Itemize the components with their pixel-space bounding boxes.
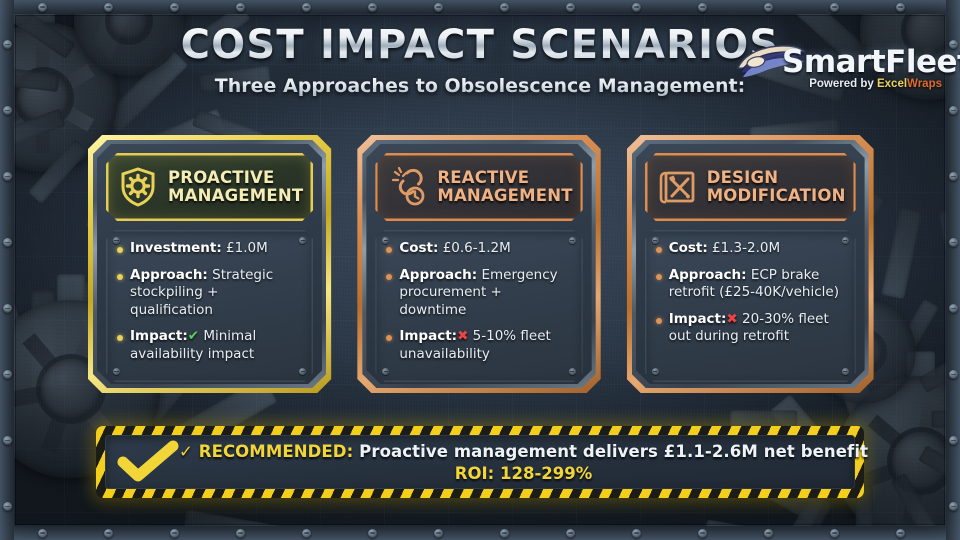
rivet	[3, 106, 12, 115]
rivet	[368, 3, 377, 12]
bullet-value: £0.6-1.2M	[438, 240, 510, 256]
rivet	[632, 3, 641, 12]
bullet-label: Impact:	[399, 328, 457, 344]
card-header: DESIGN MODIFICATION	[645, 153, 856, 221]
rivet	[236, 3, 245, 12]
bullet-text: Approach: ECP brake retrofit (£25-40K/ve…	[669, 267, 844, 302]
card-title: DESIGN MODIFICATION	[707, 169, 846, 205]
rivet	[896, 529, 905, 538]
bullet-dot	[656, 247, 662, 253]
rivet	[566, 3, 575, 12]
rivet	[3, 436, 12, 445]
bullet-label: Approach:	[669, 267, 747, 283]
screw	[569, 368, 576, 375]
bullet-value: £1.0M	[222, 240, 268, 256]
card-title: PROACTIVE MANAGEMENT	[168, 169, 303, 205]
bullet-dot	[656, 274, 662, 280]
bullet-text: Impact:✔ Minimal availability impact	[130, 328, 301, 363]
bullet-label: Cost:	[399, 240, 438, 256]
bullet-dot	[386, 274, 392, 280]
rivet	[896, 3, 905, 12]
rivet	[632, 529, 641, 538]
rivet	[949, 370, 958, 379]
rivet	[368, 529, 377, 538]
rivet	[949, 172, 958, 181]
check-icon: ✔	[188, 328, 199, 344]
rivet	[302, 3, 311, 12]
screw	[382, 368, 389, 375]
rivet	[949, 502, 958, 511]
bullet-text: Cost: £1.3-2.0M	[669, 240, 780, 258]
rivet	[949, 304, 958, 313]
rivet	[38, 3, 47, 12]
banner-line-1: ✓ RECOMMENDED: Proactive management deli…	[179, 442, 868, 461]
rivet	[830, 529, 839, 538]
card-title-line-2: MANAGEMENT	[168, 186, 303, 205]
scenario-cards: PROACTIVE MANAGEMENT Investment: £1.0M A…	[88, 135, 872, 393]
bullet-dot	[386, 247, 392, 253]
logo-powered-by: Powered by ExcelWraps	[809, 78, 942, 90]
rivet	[3, 172, 12, 181]
rivet	[764, 3, 773, 12]
rivet	[949, 436, 958, 445]
bullet-text: Approach: Emergency procurement + downti…	[399, 267, 570, 320]
bullet-text: Investment: £1.0M	[130, 240, 268, 258]
scenario-card-reactive[interactable]: REACTIVE MANAGEMENT Cost: £0.6-1.2M Appr…	[357, 135, 600, 393]
shield-gear-icon	[118, 167, 158, 207]
bullet-row: Approach: ECP brake retrofit (£25-40K/ve…	[656, 267, 844, 302]
screw	[652, 237, 659, 244]
card-body: Cost: £1.3-2.0M Approach: ECP brake retr…	[645, 230, 856, 382]
screw	[113, 368, 120, 375]
banner-text: ✓ RECOMMENDED: Proactive management deli…	[179, 442, 916, 483]
bullet-text: Impact:✖ 20-30% fleet out during retrofi…	[669, 311, 844, 346]
screw	[299, 237, 306, 244]
bullet-dot	[117, 247, 123, 253]
bullet-row: Impact:✔ Minimal availability impact	[117, 328, 301, 363]
bullet-row: Investment: £1.0M	[117, 240, 301, 258]
rivet	[170, 3, 179, 12]
cross-icon: ✖	[457, 328, 468, 344]
rivet	[500, 3, 509, 12]
infographic-canvas: COST IMPACT SCENARIOS Three Approaches t…	[0, 0, 960, 540]
rivet	[764, 529, 773, 538]
rivet	[3, 238, 12, 247]
bullet-row: Approach: Strategic stockpiling + qualif…	[117, 267, 301, 320]
card-header: REACTIVE MANAGEMENT	[375, 153, 582, 221]
rivet	[698, 3, 707, 12]
bullet-text: Approach: Strategic stockpiling + qualif…	[130, 267, 301, 320]
bullet-text: Impact:✖ 5-10% fleet unavailability	[399, 328, 570, 363]
rivet	[3, 502, 12, 511]
card-title-line-1: PROACTIVE	[168, 168, 275, 187]
bullet-label: Cost:	[669, 240, 708, 256]
scenario-card-proactive[interactable]: PROACTIVE MANAGEMENT Investment: £1.0M A…	[88, 135, 331, 393]
screw	[652, 368, 659, 375]
bullet-label: Investment:	[130, 240, 222, 256]
bullet-row: Cost: £0.6-1.2M	[386, 240, 570, 258]
card-title-line-2: MANAGEMENT	[437, 186, 572, 205]
bullet-dot	[386, 335, 392, 341]
blueprint-tools-icon	[657, 167, 697, 207]
rivet	[3, 370, 12, 379]
logo-brand: SmartFleet	[782, 44, 960, 80]
bullet-label: Impact:	[130, 328, 188, 344]
bullet-row: Impact:✖ 20-30% fleet out during retrofi…	[656, 311, 844, 346]
bullet-dot	[117, 274, 123, 280]
excelwraps-wraps: Wraps	[907, 78, 942, 90]
rivet	[434, 529, 443, 538]
card-title-line-1: REACTIVE	[437, 168, 529, 187]
rivet	[104, 3, 113, 12]
rivet	[830, 3, 839, 12]
screw	[569, 237, 576, 244]
bullet-value: £1.3-2.0M	[708, 240, 780, 256]
banner-check-inline: ✓	[179, 442, 193, 461]
screw	[842, 368, 849, 375]
screw	[299, 368, 306, 375]
screw	[113, 237, 120, 244]
rivet	[566, 529, 575, 538]
rivet	[434, 3, 443, 12]
card-header: PROACTIVE MANAGEMENT	[106, 153, 313, 221]
excelwraps-excel: Excel	[877, 78, 907, 90]
rivet	[104, 529, 113, 538]
rivet	[170, 529, 179, 538]
banner-inner-panel: ✓ RECOMMENDED: Proactive management deli…	[105, 435, 855, 489]
rivet	[3, 304, 12, 313]
card-title: REACTIVE MANAGEMENT	[437, 169, 572, 205]
frame-edge-top	[0, 0, 960, 14]
cross-icon: ✖	[726, 311, 737, 327]
recommendation-banner: ✓ RECOMMENDED: Proactive management deli…	[96, 426, 864, 498]
frame-edge-bottom	[0, 526, 960, 540]
rivet	[698, 529, 707, 538]
card-body: Investment: £1.0M Approach: Strategic st…	[106, 230, 313, 382]
rivet	[236, 529, 245, 538]
broken-chain-clock-icon	[387, 167, 427, 207]
bullet-row: Impact:✖ 5-10% fleet unavailability	[386, 328, 570, 363]
scenario-card-design[interactable]: DESIGN MODIFICATION Cost: £1.3-2.0M Appr…	[627, 135, 874, 393]
bullet-label: Approach:	[130, 267, 208, 283]
bullet-dot	[656, 318, 662, 324]
bullet-label: Impact:	[669, 311, 727, 327]
bullet-text: Cost: £0.6-1.2M	[399, 240, 510, 258]
banner-line-1-rest: Proactive management delivers £1.1-2.6M …	[353, 442, 868, 461]
bullet-label: Approach:	[399, 267, 477, 283]
rivet	[38, 529, 47, 538]
banner-recommended-label: RECOMMENDED:	[199, 442, 354, 461]
powered-prefix: Powered by	[809, 78, 877, 90]
bullet-row: Cost: £1.3-2.0M	[656, 240, 844, 258]
card-title-line-2: MODIFICATION	[707, 186, 846, 205]
rivet	[500, 529, 509, 538]
check-mark-icon	[117, 440, 179, 484]
rivet	[302, 529, 311, 538]
card-title-line-1: DESIGN	[707, 168, 779, 187]
smartfleet-logo: SmartFleet Powered by ExcelWraps	[734, 38, 946, 104]
card-body: Cost: £0.6-1.2M Approach: Emergency proc…	[375, 230, 582, 382]
rivet	[949, 238, 958, 247]
rivet	[949, 106, 958, 115]
bullet-row: Approach: Emergency procurement + downti…	[386, 267, 570, 320]
screw	[842, 237, 849, 244]
bullet-dot	[117, 335, 123, 341]
banner-roi: ROI: 128-299%	[179, 464, 868, 483]
